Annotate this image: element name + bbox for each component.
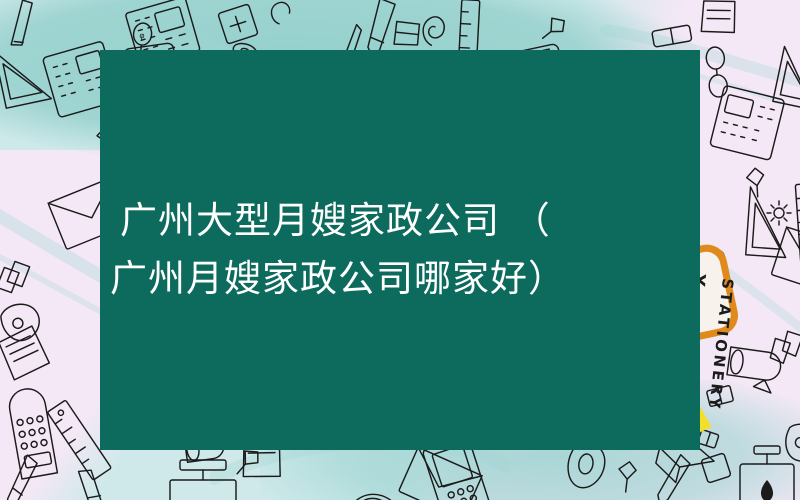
sticker-icon [212, 0, 264, 50]
brush-pen-icon [66, 460, 126, 500]
ink-bottle-icon [718, 440, 800, 500]
title-card: 广州大型月嫂家政公司 （ 广州月嫂家政公司哪家好） [100, 50, 700, 450]
sun-spark-icon [764, 198, 794, 228]
triangle-ruler-icon [0, 38, 56, 114]
notebook-topright-icon [692, 0, 748, 42]
envelope3-icon [396, 452, 486, 500]
clip-top-icon [264, 0, 314, 30]
title-card-content: 广州大型月嫂家政公司 （ 广州月嫂家政公司哪家好） [100, 50, 700, 450]
title-line-2: 广州月嫂家政公司哪家好） [110, 250, 692, 308]
clips-pair3-icon [760, 324, 800, 372]
title-line-1: 广州大型月嫂家政公司 （ [110, 192, 692, 250]
pushpin5-icon [614, 458, 648, 498]
paperclip-icon [414, 8, 456, 54]
pushpin-icon [536, 14, 576, 48]
pencil-sharp-icon [0, 452, 54, 500]
banner-stage: φ [0, 0, 800, 500]
clips-pair-icon [0, 252, 46, 300]
triangle-ruler2-icon [768, 42, 800, 116]
notebook-icon [0, 322, 60, 382]
